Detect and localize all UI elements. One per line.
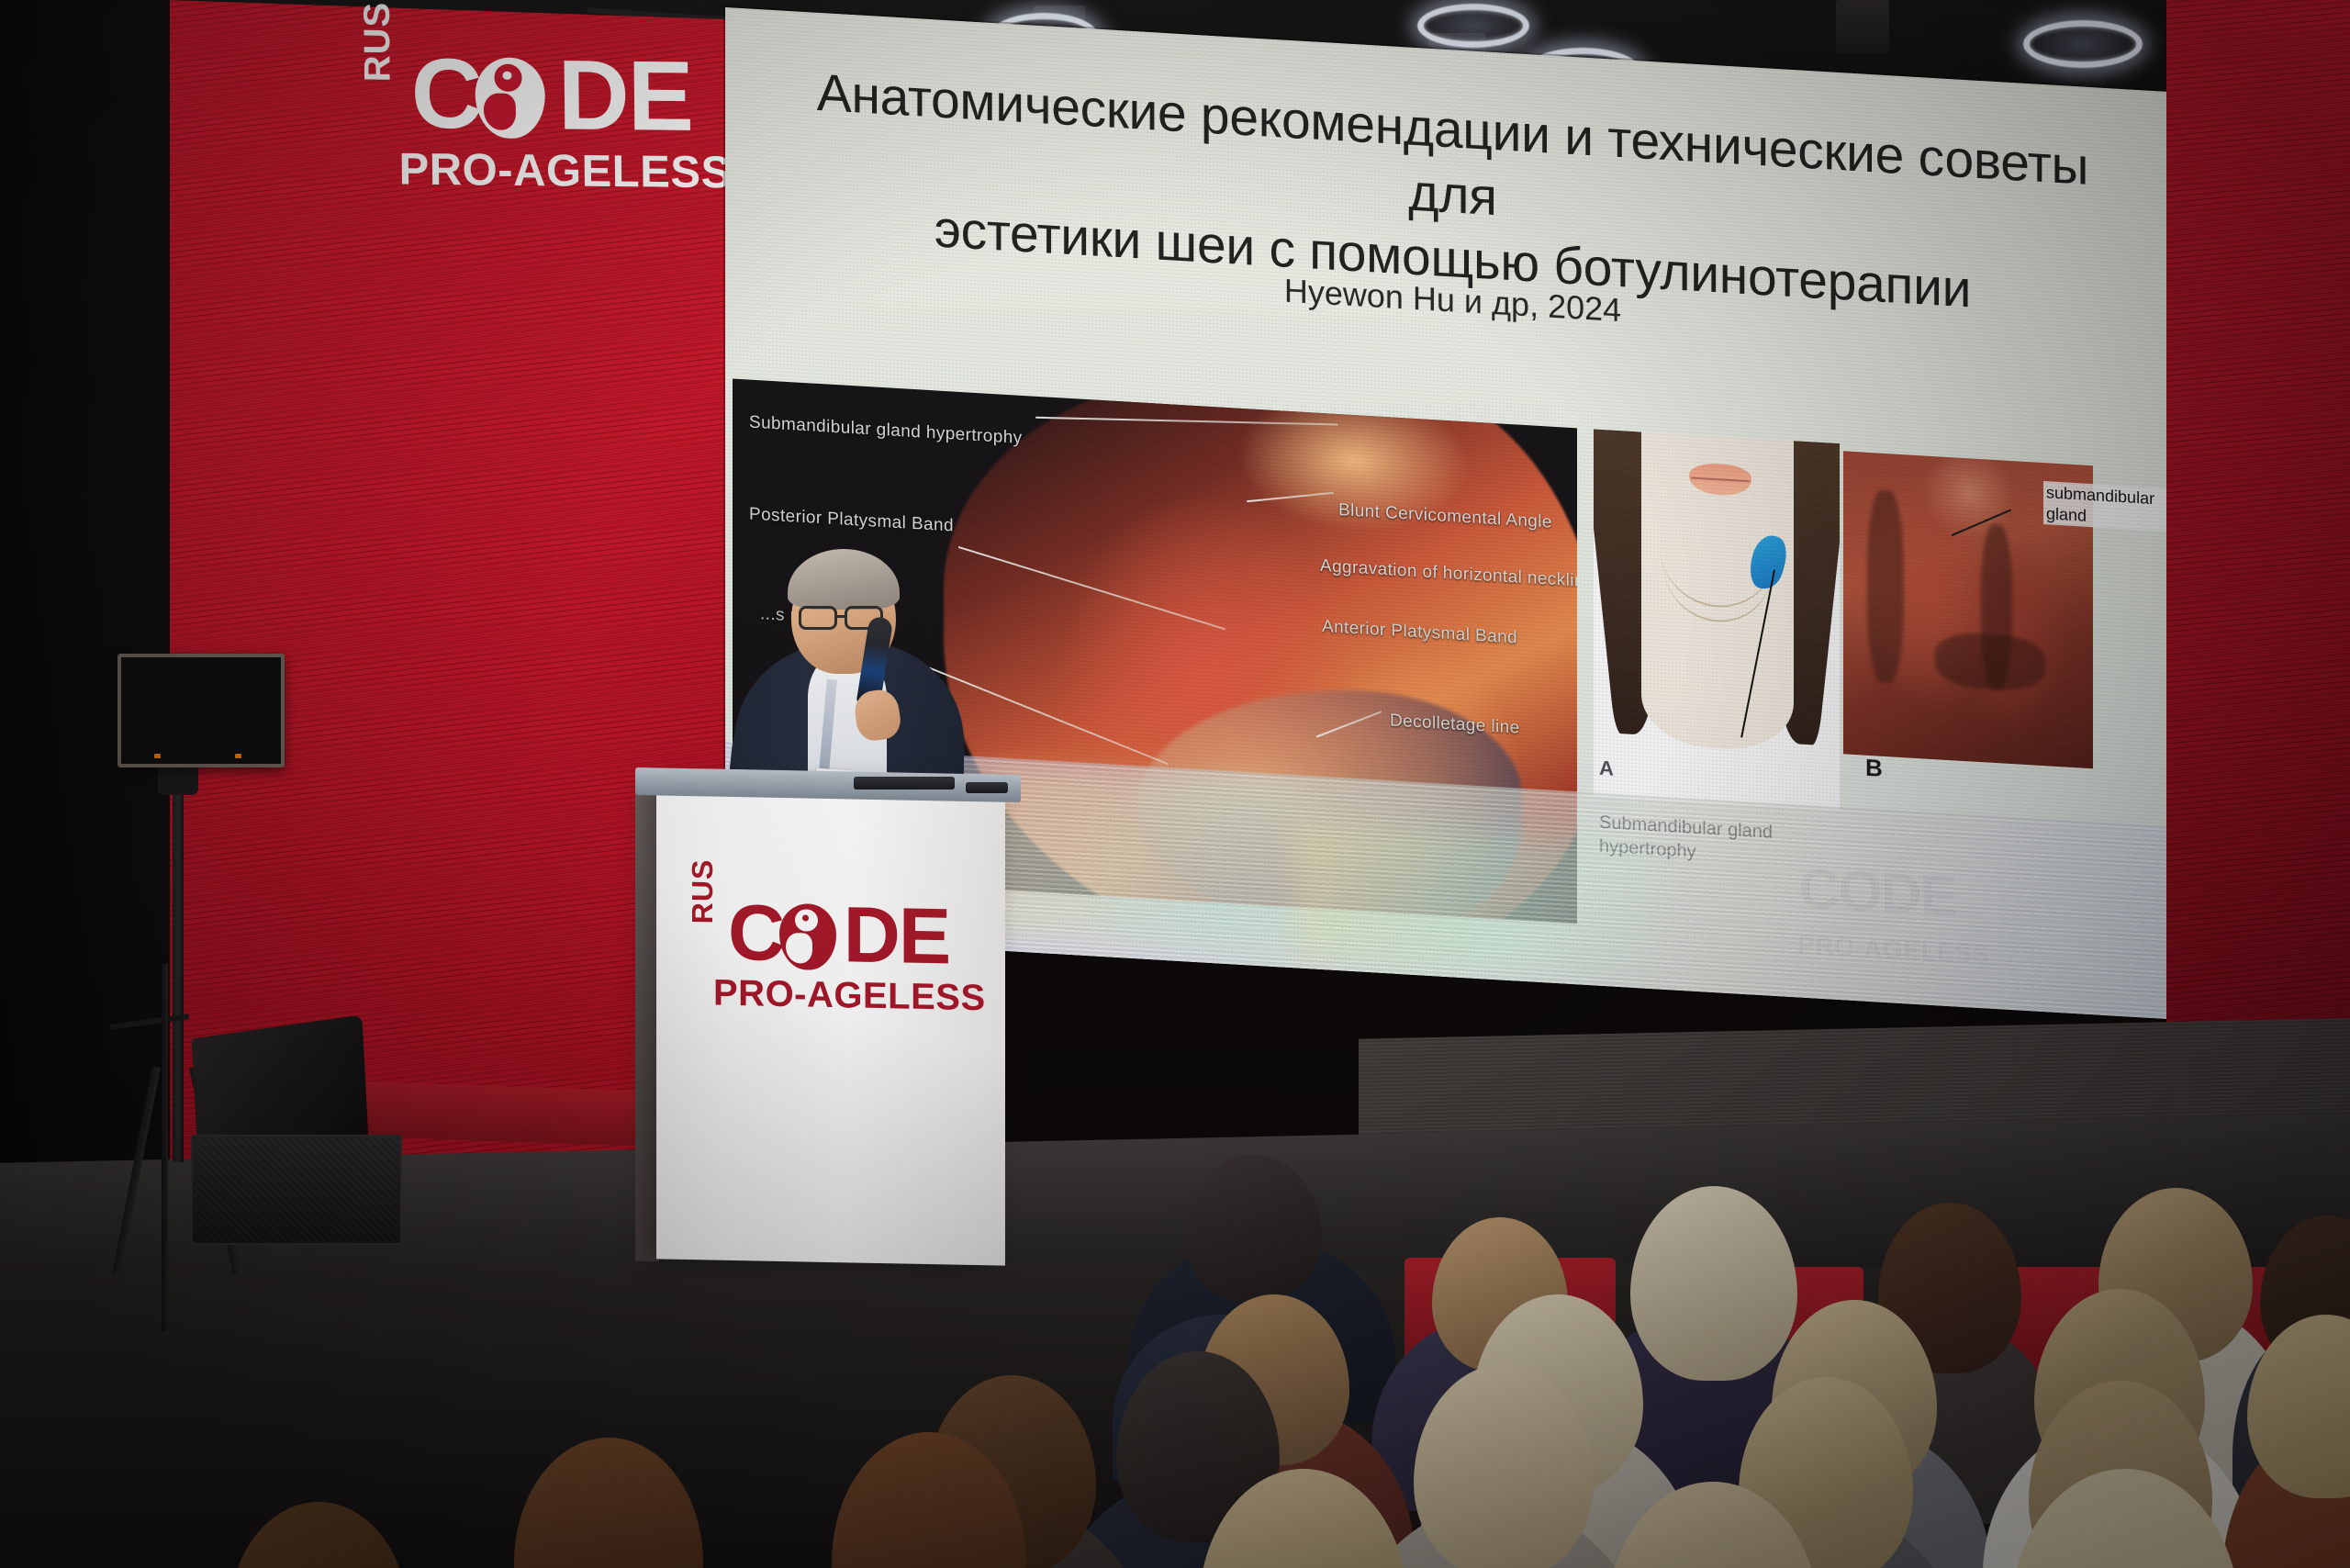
audience-head (1630, 1186, 1797, 1381)
logo-rus-text: RUS (357, 2, 399, 83)
tissue-streak (1867, 489, 1904, 684)
podium-logo-rus-text: RUS (686, 858, 720, 924)
logo-tagline-text: PRO-AGELESS (398, 144, 732, 199)
right-red-led-wall (2166, 0, 2350, 1044)
eyeglasses-icon (799, 606, 837, 630)
prism-glare (1294, 821, 1680, 981)
logo-embryo-icon (475, 57, 545, 139)
ring-light-icon (1417, 4, 1529, 48)
panel-letter-a: A (1599, 756, 1614, 781)
embryo-eye-dot (503, 72, 511, 80)
annotation-submandibular-hypertrophy: Submandibular gland hypertrophy (749, 413, 1023, 449)
monitor-power-led (154, 754, 161, 758)
audience-head (514, 1438, 703, 1568)
eyeglasses-bridge (837, 615, 846, 618)
audience-head (1184, 1155, 1322, 1302)
embryo-body-shape (786, 933, 812, 964)
ceiling-can-light (1836, 0, 1889, 53)
podium-logo-embryo-icon (779, 903, 836, 970)
prism-glare (982, 766, 1460, 958)
lectern-device (966, 782, 1008, 793)
audience-seating (0, 991, 2350, 1568)
cadaver-gland-label: submandibular gland (2043, 481, 2172, 532)
annotation-posterior-platysmal-band: Posterior Platysmal Band (749, 505, 954, 537)
ring-light-icon (2023, 20, 2143, 68)
logo-code-text: C DE (410, 44, 692, 146)
lectern-device (854, 777, 955, 790)
tissue-streak (1935, 631, 2045, 692)
neck-illustration-panel-a (1594, 429, 1840, 811)
confidence-monitor[interactable] (117, 654, 285, 767)
panel-letter-b: B (1865, 754, 1883, 783)
audience-head (229, 1502, 408, 1568)
podium-logo-code-text: C DE (728, 893, 949, 977)
embryo-body-shape (484, 93, 516, 130)
led-scanline-texture (2166, 0, 2350, 1044)
conference-hall-scene: RUS C DE PRO-AGELESS Анатомические реком… (0, 0, 2350, 1568)
monitor-status-led (235, 754, 241, 758)
wall-brand-logo: RUS C DE PRO-AGELESS (357, 43, 726, 198)
